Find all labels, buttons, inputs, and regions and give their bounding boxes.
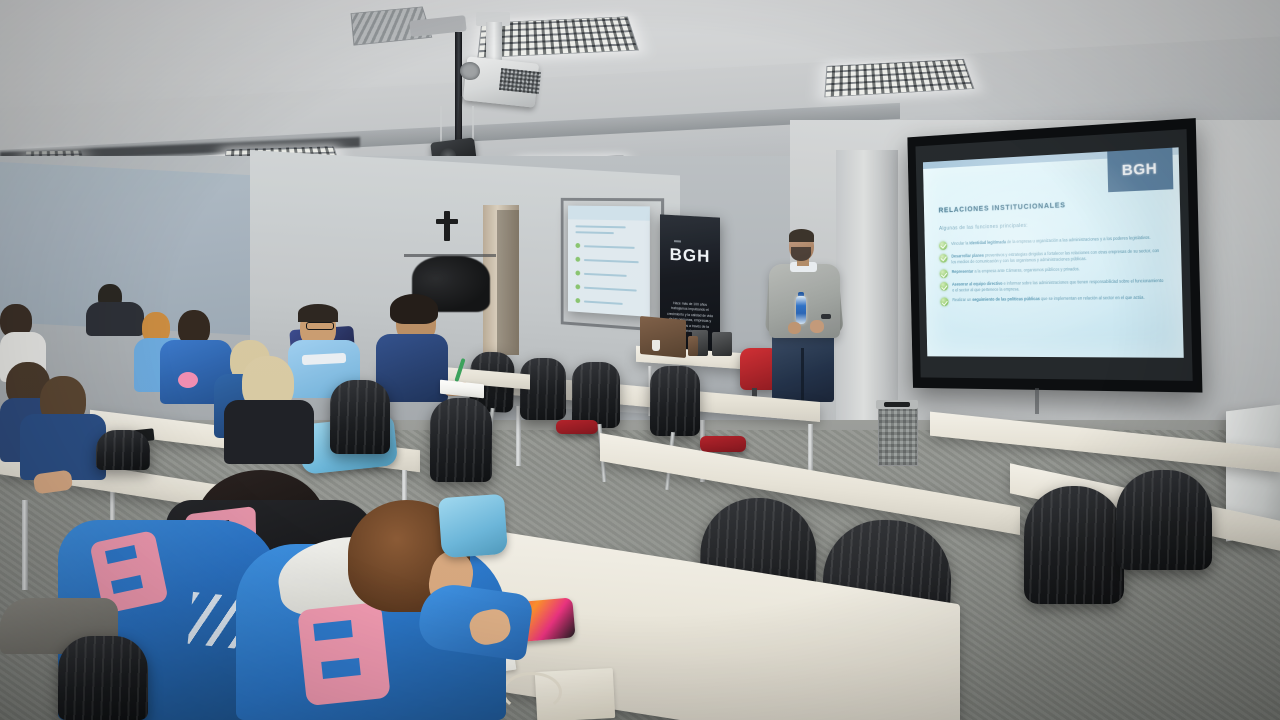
chair	[430, 398, 492, 482]
check-icon	[940, 282, 948, 291]
chair	[58, 636, 148, 720]
check-icon	[939, 241, 947, 250]
slide-bullet-text: Realizar un seguimiento de las políticas…	[952, 295, 1144, 304]
check-icon	[940, 269, 948, 278]
projector-grille	[499, 68, 541, 94]
slide-bullet-list: Vincular la identidad legitimada de la e…	[939, 234, 1165, 310]
chair	[650, 366, 700, 436]
waste-bin	[878, 404, 918, 466]
chair-seat-cushion	[556, 420, 598, 434]
slide: BGH RELACIONES INSTITUCIONALES Algunas d…	[923, 147, 1183, 358]
slide-bullet-item: Desarrollar planes preventivos y estrate…	[940, 248, 1165, 266]
check-icon	[941, 298, 949, 307]
presenter-leg-split	[801, 348, 804, 402]
chair	[1116, 470, 1212, 570]
chair	[1024, 486, 1124, 604]
check-icon	[940, 254, 948, 263]
slide-bullet-text: Vincular la identidad legitimada de la e…	[951, 235, 1151, 247]
slide-bullet-item: Representar a la empresa ante Cámaras, o…	[940, 264, 1165, 278]
slide-bullet-text: Asesorar al equipo directivo e informar …	[952, 278, 1165, 294]
equipment-box	[712, 332, 732, 356]
slide-bullet-text: Representar a la empresa ante Cámaras, o…	[952, 266, 1080, 275]
slide-brand-badge: BGH	[1107, 148, 1173, 193]
water-bottle	[796, 296, 806, 324]
doorway-shadow	[497, 210, 519, 355]
presenter-hair	[789, 229, 814, 242]
classroom-photo: BGH RELACIONES INSTITUCIONALES Algunas d…	[0, 0, 1280, 720]
table-leg	[22, 500, 28, 590]
slide-bullet-item: Realizar un seguimiento de las políticas…	[941, 295, 1166, 307]
tote-bag-handle	[502, 672, 562, 712]
slide-bullet-item: Asesorar al equipo directivo e informar …	[940, 278, 1165, 294]
screen-surface: BGH RELACIONES INSTITUCIONALES Algunas d…	[916, 129, 1193, 381]
student-logo-patch	[178, 372, 198, 388]
banner-logo-text: BGH	[670, 245, 711, 267]
chair	[330, 380, 390, 454]
student-body	[224, 400, 314, 464]
banner-tick	[674, 240, 681, 242]
equipment-panel	[640, 316, 686, 358]
student-body	[86, 302, 144, 336]
presenter-beard	[791, 247, 811, 261]
crucifix-icon	[444, 211, 450, 241]
chair	[96, 430, 150, 470]
student-hair	[390, 294, 438, 324]
hoodie-number	[297, 602, 391, 706]
waste-bin-opening	[884, 402, 910, 407]
secondary-screen-frame	[561, 198, 664, 332]
crucifix-icon-crossbar	[436, 219, 458, 224]
slide-bullet-text: Desarrollar planes preventivos y estrate…	[951, 248, 1164, 266]
cup	[652, 340, 660, 351]
projection-screen: BGH RELACIONES INSTITUCIONALES Algunas d…	[907, 118, 1202, 393]
chair	[572, 362, 620, 428]
slide-title: RELACIONES INSTITUCIONALES	[939, 201, 1066, 215]
slide-brand-text: BGH	[1122, 160, 1158, 179]
screen-stand	[1035, 388, 1039, 414]
backpack	[438, 494, 508, 558]
chair-seat-cushion	[700, 436, 746, 452]
glasses-icon	[306, 322, 334, 330]
presenter-hand-right	[810, 320, 824, 333]
wristwatch	[821, 314, 831, 319]
equipment-box	[688, 336, 698, 356]
slide-subtitle: Algunas de las funciones principales:	[939, 222, 1028, 231]
presenter-hand-left	[788, 322, 801, 334]
student-hair	[298, 304, 338, 322]
